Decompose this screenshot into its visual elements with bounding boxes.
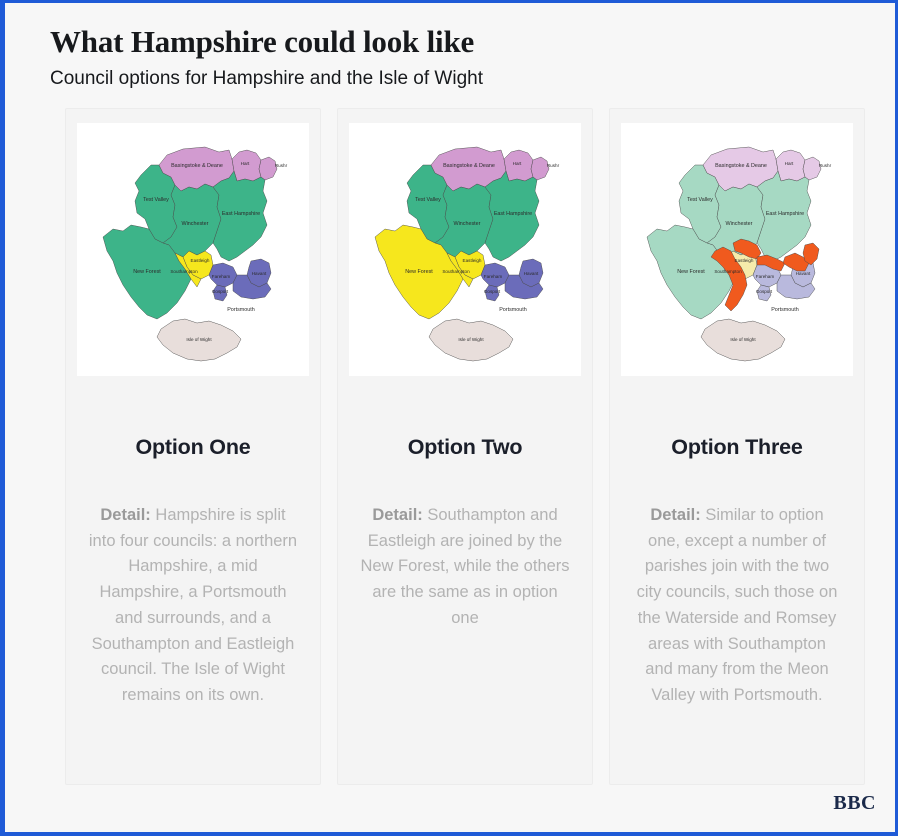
option-detail: Detail: Similar to option one, except a … <box>632 503 842 709</box>
option-card-option-two[interactable]: Basingstoke & DeaneHartRushrTest ValleyW… <box>337 108 593 785</box>
map-label-rushmoor: Rushr <box>275 163 288 168</box>
map-label-isle-of-wight: Isle of Wight <box>458 337 484 342</box>
map-label-fareham: Fareham <box>756 274 775 279</box>
map-label-portsmouth: Portsmouth <box>771 307 799 313</box>
map-label-new-forest: New Forest <box>133 269 161 275</box>
map-label-havant: Havant <box>252 271 267 276</box>
option-card-option-one[interactable]: Basingstoke & DeaneHartRushrTest ValleyW… <box>65 108 321 785</box>
map-svg: Basingstoke & DeaneHartRushrTest ValleyW… <box>349 123 581 376</box>
map-label-southampton: Southampton <box>442 269 470 274</box>
map-label-basingstoke: Basingstoke & Deane <box>715 163 767 169</box>
map-svg: Basingstoke & DeaneHartRushrTest ValleyW… <box>77 123 309 376</box>
map-label-portsmouth: Portsmouth <box>499 307 527 313</box>
infographic-body: What Hampshire could look like Council o… <box>5 3 895 832</box>
map-label-gosport: Gosport <box>484 289 501 294</box>
map-label-hart: Hart <box>513 161 522 166</box>
map-label-havant: Havant <box>796 271 811 276</box>
detail-label: Detail: <box>100 506 150 524</box>
header: What Hampshire could look like Council o… <box>5 3 895 91</box>
detail-label: Detail: <box>650 506 700 524</box>
map-label-new-forest: New Forest <box>405 269 433 275</box>
map-label-winchester: Winchester <box>454 221 481 227</box>
map-label-eastleigh: Eastleigh <box>735 258 754 263</box>
page-subtitle: Council options for Hampshire and the Is… <box>50 68 895 91</box>
map-label-fareham: Fareham <box>484 274 503 279</box>
map-label-basingstoke: Basingstoke & Deane <box>443 163 495 169</box>
map-label-gosport: Gosport <box>756 289 773 294</box>
map-label-test-valley: Test Valley <box>415 197 441 203</box>
map-label-fareham: Fareham <box>212 274 231 279</box>
map-label-hart: Hart <box>785 161 794 166</box>
map-label-new-forest: New Forest <box>677 269 705 275</box>
map-label-havant: Havant <box>524 271 539 276</box>
bbc-logo: BBC <box>833 792 876 815</box>
map-label-southampton: Southampton <box>714 269 742 274</box>
detail-text: Southampton and Eastleigh are joined by … <box>360 506 569 627</box>
map-label-rushmoor: Rushr <box>547 163 560 168</box>
map-label-test-valley: Test Valley <box>687 197 713 203</box>
page-title: What Hampshire could look like <box>50 25 895 59</box>
map-label-rushmoor: Rushr <box>819 163 832 168</box>
map-label-hart: Hart <box>241 161 250 166</box>
map-svg: Basingstoke & DeaneHartRushrTest ValleyW… <box>621 123 853 376</box>
map-label-isle-of-wight: Isle of Wight <box>730 337 756 342</box>
option-detail: Detail: Southampton and Eastleigh are jo… <box>360 503 570 632</box>
map-label-winchester: Winchester <box>182 221 209 227</box>
map-label-eastleigh: Eastleigh <box>463 258 482 263</box>
option-title: Option One <box>66 435 320 460</box>
infographic-frame: What Hampshire could look like Council o… <box>0 0 898 836</box>
map-label-portsmouth: Portsmouth <box>227 307 255 313</box>
map-label-eastleigh: Eastleigh <box>191 258 210 263</box>
map-label-east-hampshire: East Hampshire <box>766 211 804 217</box>
map-label-southampton: Southampton <box>170 269 198 274</box>
map-option-one: Basingstoke & DeaneHartRushrTest ValleyW… <box>77 123 309 376</box>
map-label-test-valley: Test Valley <box>143 197 169 203</box>
detail-text: Similar to option one, except a number o… <box>637 506 838 704</box>
map-label-winchester: Winchester <box>726 221 753 227</box>
map-label-east-hampshire: East Hampshire <box>494 211 532 217</box>
option-detail: Detail: Hampshire is split into four cou… <box>88 503 298 709</box>
option-card-option-three[interactable]: Basingstoke & DeaneHartRushrTest ValleyW… <box>609 108 865 785</box>
map-option-three: Basingstoke & DeaneHartRushrTest ValleyW… <box>621 123 853 376</box>
options-row: Basingstoke & DeaneHartRushrTest ValleyW… <box>5 91 895 785</box>
map-label-gosport: Gosport <box>212 289 229 294</box>
map-label-east-hampshire: East Hampshire <box>222 211 260 217</box>
detail-text: Hampshire is split into four councils: a… <box>89 506 297 704</box>
map-label-isle-of-wight: Isle of Wight <box>186 337 212 342</box>
map-label-basingstoke: Basingstoke & Deane <box>171 163 223 169</box>
option-title: Option Two <box>338 435 592 460</box>
map-option-two: Basingstoke & DeaneHartRushrTest ValleyW… <box>349 123 581 376</box>
detail-label: Detail: <box>372 506 422 524</box>
option-title: Option Three <box>610 435 864 460</box>
